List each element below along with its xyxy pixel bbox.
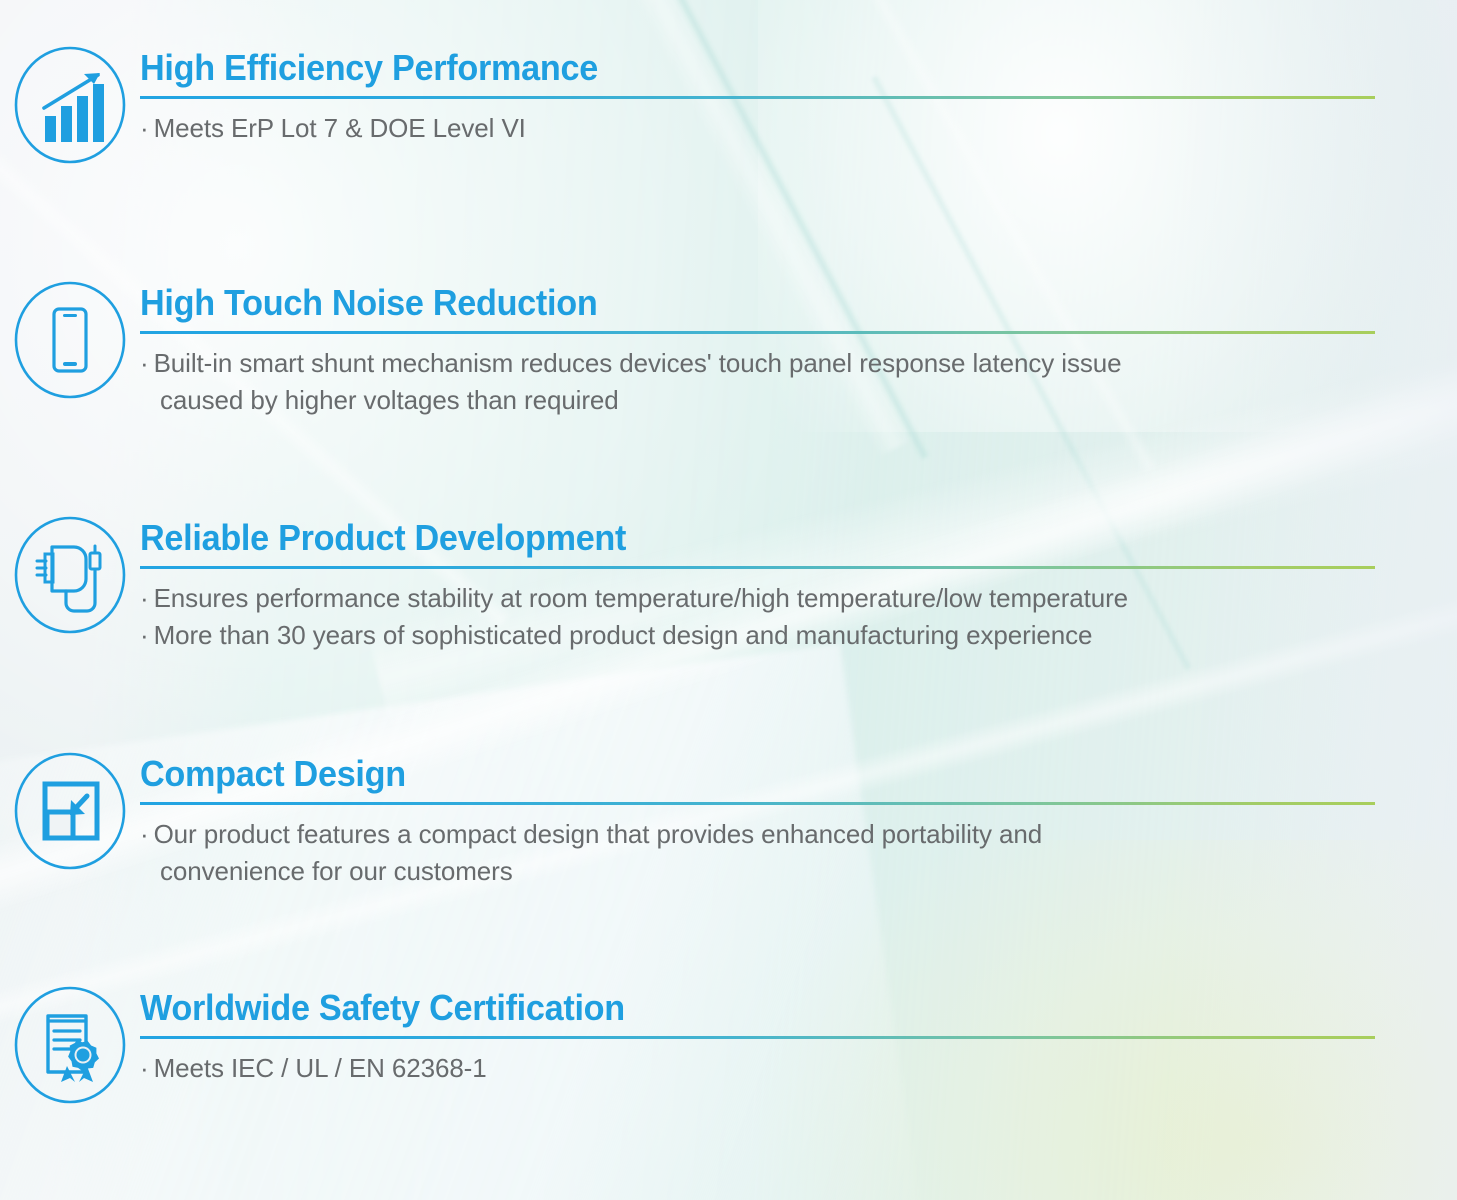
bullet-item: ·Our product features a compact design t…	[140, 816, 1375, 890]
bullet-item: ·Ensures performance stability at room t…	[140, 580, 1375, 617]
certificate-seal-icon	[14, 986, 126, 1104]
feature-item-high-efficiency-performance: High Efficiency Performance ·Meets ErP L…	[0, 44, 1457, 164]
bullet-marker: ·	[140, 583, 154, 613]
bullet-marker: ·	[140, 620, 154, 650]
compact-resize-icon	[14, 752, 126, 870]
bullet-item: ·Built-in smart shunt mechanism reduces …	[140, 345, 1375, 419]
feature-body: Reliable Product Development ·Ensures pe…	[140, 514, 1457, 654]
bullet-marker: ·	[140, 1053, 154, 1083]
smartphone-icon	[14, 281, 126, 399]
bar-chart-growth-icon	[14, 46, 126, 164]
feature-bullets: ·Meets IEC / UL / EN 62368-1	[140, 1050, 1375, 1087]
bullet-text: Ensures performance stability at room te…	[154, 583, 1128, 613]
feature-item-worldwide-safety-certification: Worldwide Safety Certification ·Meets IE…	[0, 984, 1457, 1104]
feature-divider	[140, 331, 1375, 334]
feature-bullets: ·Our product features a compact design t…	[140, 816, 1375, 890]
feature-list: High Efficiency Performance ·Meets ErP L…	[0, 0, 1457, 1200]
bullet-item: ·Meets IEC / UL / EN 62368-1	[140, 1050, 1375, 1087]
feature-divider	[140, 1036, 1375, 1039]
feature-body: High Touch Noise Reduction ·Built-in sma…	[140, 279, 1457, 419]
feature-body: High Efficiency Performance ·Meets ErP L…	[140, 44, 1457, 147]
bullet-item: ·Meets ErP Lot 7 & DOE Level VI	[140, 110, 1375, 147]
feature-title: Worldwide Safety Certification	[140, 987, 1313, 1029]
bullet-text: More than 30 years of sophisticated prod…	[154, 620, 1093, 650]
feature-icon-container	[0, 750, 140, 870]
bullet-text: Built-in smart shunt mechanism reduces d…	[154, 348, 1122, 415]
feature-body: Compact Design ·Our product features a c…	[140, 750, 1457, 890]
feature-body: Worldwide Safety Certification ·Meets IE…	[140, 984, 1457, 1087]
feature-bullets: ·Meets ErP Lot 7 & DOE Level VI	[140, 110, 1375, 147]
feature-icon-container	[0, 514, 140, 634]
feature-item-compact-design: Compact Design ·Our product features a c…	[0, 750, 1457, 890]
feature-title: Reliable Product Development	[140, 517, 1313, 559]
bullet-text: Meets IEC / UL / EN 62368-1	[154, 1053, 487, 1083]
feature-bullets: ·Ensures performance stability at room t…	[140, 580, 1375, 654]
bullet-marker: ·	[140, 819, 154, 849]
feature-icon-container	[0, 984, 140, 1104]
bullet-item: ·More than 30 years of sophisticated pro…	[140, 617, 1375, 654]
feature-divider	[140, 566, 1375, 569]
feature-item-high-touch-noise-reduction: High Touch Noise Reduction ·Built-in sma…	[0, 279, 1457, 419]
feature-icon-container	[0, 279, 140, 399]
feature-title: High Efficiency Performance	[140, 47, 1313, 89]
feature-title: High Touch Noise Reduction	[140, 282, 1313, 324]
feature-divider	[140, 96, 1375, 99]
bullet-marker: ·	[140, 348, 154, 378]
bullet-marker: ·	[140, 113, 154, 143]
feature-bullets: ·Built-in smart shunt mechanism reduces …	[140, 345, 1375, 419]
bullet-text: Our product features a compact design th…	[154, 819, 1043, 886]
bullet-text: Meets ErP Lot 7 & DOE Level VI	[154, 113, 526, 143]
power-adapter-icon	[14, 516, 126, 634]
feature-title: Compact Design	[140, 753, 1313, 795]
feature-item-reliable-product-development: Reliable Product Development ·Ensures pe…	[0, 514, 1457, 654]
feature-icon-container	[0, 44, 140, 164]
feature-divider	[140, 802, 1375, 805]
